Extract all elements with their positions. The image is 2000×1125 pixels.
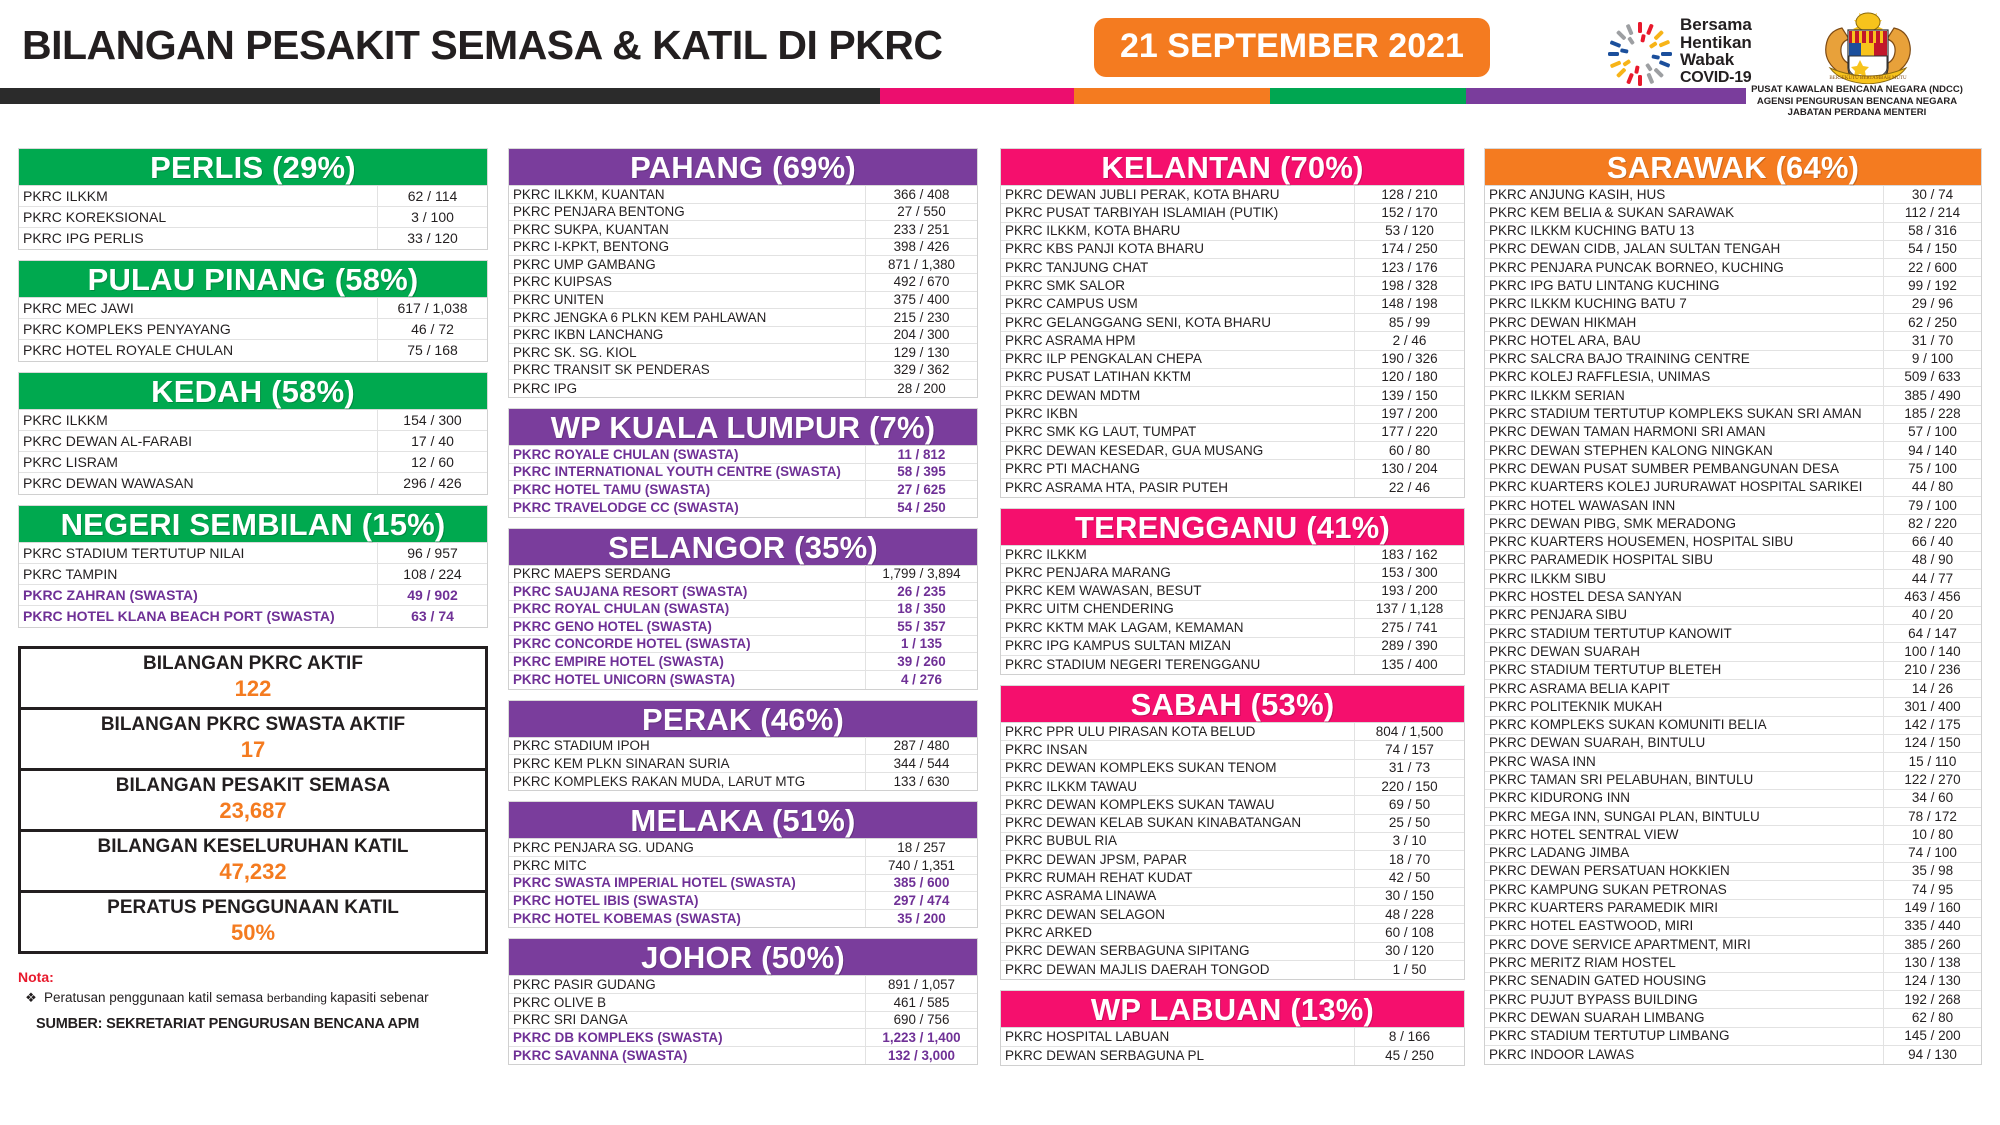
patients-over-beds: 66 / 40 xyxy=(1883,533,1981,551)
table-row: PKRC DEWAN JPSM, PAPAR18 / 70 xyxy=(1001,851,1464,869)
bhw-line2: Hentikan xyxy=(1680,34,1800,52)
patients-over-beds: 192 / 268 xyxy=(1883,991,1981,1009)
summary-box: BILANGAN PKRC AKTIF122BILANGAN PKRC SWAS… xyxy=(18,646,488,954)
table-row: PKRC DEWAN KOMPLEKS SUKAN TAWAU69 / 50 xyxy=(1001,796,1464,814)
table-row: PKRC DEWAN PUSAT SUMBER PEMBANGUNAN DESA… xyxy=(1485,460,1981,478)
table-row: PKRC GENO HOTEL (SWASTA)55 / 357 xyxy=(509,618,977,636)
patients-over-beds: 75 / 168 xyxy=(377,340,487,361)
facility-name: PKRC EMPIRE HOTEL (SWASTA) xyxy=(509,653,865,671)
facility-name: PKRC KUARTERS HOUSEMEN, HOSPITAL SIBU xyxy=(1485,533,1883,551)
facility-name: PKRC CONCORDE HOTEL (SWASTA) xyxy=(509,635,865,653)
patients-over-beds: 123 / 176 xyxy=(1354,259,1464,277)
summary-label: PERATUS PENGGUNAAN KATIL xyxy=(21,896,485,920)
facility-name: PKRC SENADIN GATED HOUSING xyxy=(1485,972,1883,990)
patients-over-beds: 193 / 200 xyxy=(1354,582,1464,600)
facility-name: PKRC KBS PANJI KOTA BHARU xyxy=(1001,240,1354,258)
table-row: PKRC TAMPIN108 / 224 xyxy=(19,564,487,585)
table-row: PKRC HOSTEL DESA SANYAN463 / 456 xyxy=(1485,589,1981,607)
column-4: SARAWAK (64%)PKRC ANJUNG KASIH, HUS30 / … xyxy=(1484,148,1982,1075)
facility-name: PKRC MERITZ RIAM HOSTEL xyxy=(1485,954,1883,972)
patients-over-beds: 129 / 130 xyxy=(865,344,977,362)
facility-name: PKRC ILKKM SIBU xyxy=(1485,570,1883,588)
patients-over-beds: 210 / 236 xyxy=(1883,661,1981,679)
patients-over-beds: 75 / 100 xyxy=(1883,460,1981,478)
table-row: PKRC SRI DANGA690 / 756 xyxy=(509,1012,977,1030)
pkrc-dashboard-page: BILANGAN PESAKIT SEMASA & KATIL DI PKRC … xyxy=(0,0,2000,1125)
facility-name: PKRC SAUJANA RESORT (SWASTA) xyxy=(509,583,865,601)
table-row: PKRC DB KOMPLEKS (SWASTA)1,223 / 1,400 xyxy=(509,1029,977,1047)
facility-name: PKRC MEC JAWI xyxy=(19,298,377,319)
patients-over-beds: 375 / 400 xyxy=(865,291,977,309)
facility-name: PKRC IKBN xyxy=(1001,405,1354,423)
note-part3: kapasiti sebenar xyxy=(330,990,428,1005)
patients-over-beds: 62 / 250 xyxy=(1883,314,1981,332)
table-row: PKRC STADIUM TERTUTUP KOMPLEKS SUKAN SRI… xyxy=(1485,406,1981,424)
patients-over-beds: 177 / 220 xyxy=(1354,423,1464,441)
facility-name: PKRC KKTM MAK LAGAM, KEMAMAN xyxy=(1001,619,1354,637)
patients-over-beds: 35 / 98 xyxy=(1883,862,1981,880)
patients-over-beds: 58 / 316 xyxy=(1883,222,1981,240)
patients-over-beds: 99 / 192 xyxy=(1883,277,1981,295)
facility-name: PKRC KIDURONG INN xyxy=(1485,789,1883,807)
facility-name: PKRC ASRAMA HTA, PASIR PUTEH xyxy=(1001,479,1354,497)
patients-over-beds: 142 / 175 xyxy=(1883,716,1981,734)
facility-name: PKRC ILKKM, KOTA BHARU xyxy=(1001,222,1354,240)
facility-name: PKRC TRAVELODGE CC (SWASTA) xyxy=(509,499,865,517)
facility-name: PKRC DEWAN PERSATUAN HOKKIEN xyxy=(1485,862,1883,880)
facility-name: PKRC HOTEL IBIS (SWASTA) xyxy=(509,892,865,910)
facility-name: PKRC ILP PENGKALAN CHEPA xyxy=(1001,350,1354,368)
patients-over-beds: 74 / 95 xyxy=(1883,881,1981,899)
table-row: PKRC BUBUL RIA3 / 10 xyxy=(1001,833,1464,851)
patients-over-beds: 11 / 812 xyxy=(865,446,977,464)
table-row: PKRC INSAN74 / 157 xyxy=(1001,741,1464,759)
facility-name: PKRC SRI DANGA xyxy=(509,1011,865,1029)
facility-name: PKRC KEM PLKN SINARAN SURIA xyxy=(509,755,865,773)
table-row: PKRC KUARTERS KOLEJ JURURAWAT HOSPITAL S… xyxy=(1485,479,1981,497)
facility-name: PKRC KUARTERS KOLEJ JURURAWAT HOSPITAL S… xyxy=(1485,478,1883,496)
table-row: PKRC ILKKM KUCHING BATU 1358 / 316 xyxy=(1485,223,1981,241)
patients-over-beds: 8 / 166 xyxy=(1354,1028,1464,1046)
patients-over-beds: 190 / 326 xyxy=(1354,350,1464,368)
table-row: PKRC SAUJANA RESORT (SWASTA)26 / 235 xyxy=(509,583,977,601)
facility-table: PKRC PPR ULU PIRASAN KOTA BELUD804 / 1,5… xyxy=(1000,723,1465,980)
patients-over-beds: 85 / 99 xyxy=(1354,314,1464,332)
state-block: PERLIS (29%)PKRC ILKKM62 / 114PKRC KOREK… xyxy=(18,148,488,250)
covid-burst-icon xyxy=(1604,18,1676,90)
patients-over-beds: 40 / 20 xyxy=(1883,606,1981,624)
patients-over-beds: 31 / 70 xyxy=(1883,332,1981,350)
patients-over-beds: 74 / 157 xyxy=(1354,741,1464,759)
summary-value: 122 xyxy=(21,676,485,702)
facility-name: PKRC TAMAN SRI PELABUHAN, BINTULU xyxy=(1485,771,1883,789)
table-row: PKRC PTI MACHANG130 / 204 xyxy=(1001,460,1464,478)
patients-over-beds: 145 / 200 xyxy=(1883,1027,1981,1045)
facility-name: PKRC HOTEL ARA, BAU xyxy=(1485,332,1883,350)
table-row: PKRC IPG KAMPUS SULTAN MIZAN289 / 390 xyxy=(1001,638,1464,656)
facility-name: PKRC ARKED xyxy=(1001,924,1354,942)
patients-over-beds: 804 / 1,500 xyxy=(1354,723,1464,741)
facility-name: PKRC MEGA INN, SUNGAI PLAN, BINTULU xyxy=(1485,808,1883,826)
patients-over-beds: 287 / 480 xyxy=(865,737,977,755)
patients-over-beds: 122 / 270 xyxy=(1883,771,1981,789)
patients-over-beds: 130 / 138 xyxy=(1883,954,1981,972)
table-row: PKRC KUIPSAS492 / 670 xyxy=(509,274,977,292)
facility-name: PKRC TAMPIN xyxy=(19,564,377,585)
patients-over-beds: 55 / 357 xyxy=(865,618,977,636)
facility-name: PKRC SUKPA, KUANTAN xyxy=(509,221,865,239)
table-row: PKRC DEWAN WAWASAN296 / 426 xyxy=(19,473,487,494)
patients-over-beds: 44 / 77 xyxy=(1883,570,1981,588)
state-header: MELAKA (51%) xyxy=(508,801,978,839)
table-row: PKRC PENJARA SIBU40 / 20 xyxy=(1485,607,1981,625)
table-row: PKRC DEWAN PERSATUAN HOKKIEN35 / 98 xyxy=(1485,863,1981,881)
patients-over-beds: 297 / 474 xyxy=(865,892,977,910)
table-row: PKRC ILKKM SIBU44 / 77 xyxy=(1485,570,1981,588)
facility-name: PKRC DEWAN HIKMAH xyxy=(1485,314,1883,332)
patients-over-beds: 385 / 600 xyxy=(865,874,977,892)
patients-over-beds: 233 / 251 xyxy=(865,221,977,239)
patients-over-beds: 137 / 1,128 xyxy=(1354,600,1464,618)
patients-over-beds: 29 / 96 xyxy=(1883,295,1981,313)
patients-over-beds: 891 / 1,057 xyxy=(865,976,977,994)
facility-name: PKRC RUMAH REHAT KUDAT xyxy=(1001,869,1354,887)
table-row: PKRC DEWAN KESEDAR, GUA MUSANG60 / 80 xyxy=(1001,442,1464,460)
facility-name: PKRC LADANG JIMBA xyxy=(1485,844,1883,862)
patients-over-beds: 108 / 224 xyxy=(377,564,487,585)
facility-name: PKRC PENJARA SIBU xyxy=(1485,606,1883,624)
patients-over-beds: 30 / 74 xyxy=(1883,186,1981,204)
facility-name: PKRC IKBN LANCHANG xyxy=(509,326,865,344)
header-strip-pink xyxy=(880,88,1074,104)
table-row: PKRC KEM BELIA & SUKAN SARAWAK112 / 214 xyxy=(1485,204,1981,222)
table-row: PKRC HOTEL KLANA BEACH PORT (SWASTA)63 /… xyxy=(19,606,487,627)
patients-over-beds: 1 / 50 xyxy=(1354,961,1464,979)
table-row: PKRC SMK SALOR198 / 328 xyxy=(1001,277,1464,295)
facility-name: PKRC SAVANNA (SWASTA) xyxy=(509,1047,865,1065)
facility-name: PKRC HOTEL KOBEMAS (SWASTA) xyxy=(509,910,865,928)
state-header: SABAH (53%) xyxy=(1000,685,1465,723)
table-row: PKRC DEWAN AL-FARABI17 / 40 xyxy=(19,431,487,452)
patients-over-beds: 204 / 300 xyxy=(865,326,977,344)
facility-name: PKRC DEWAN JUBLI PERAK, KOTA BHARU xyxy=(1001,186,1354,204)
table-row: PKRC TRANSIT SK PENDERAS329 / 362 xyxy=(509,362,977,380)
facility-name: PKRC PUJUT BYPASS BUILDING xyxy=(1485,991,1883,1009)
patients-over-beds: 148 / 198 xyxy=(1354,295,1464,313)
facility-name: PKRC DEWAN AL-FARABI xyxy=(19,431,377,452)
table-row: PKRC DEWAN STEPHEN KALONG NINGKAN94 / 14… xyxy=(1485,442,1981,460)
patients-over-beds: 385 / 260 xyxy=(1883,936,1981,954)
table-row: PKRC HOTEL SENTRAL VIEW10 / 80 xyxy=(1485,826,1981,844)
table-row: PKRC TRAVELODGE CC (SWASTA)54 / 250 xyxy=(509,499,977,517)
patients-over-beds: 1 / 135 xyxy=(865,635,977,653)
facility-name: PKRC I-KPKT, BENTONG xyxy=(509,238,865,256)
crest-line1: PUSAT KAWALAN BENCANA NEGARA (NDCC) xyxy=(1716,84,1998,96)
facility-name: PKRC POLITEKNIK MUKAH xyxy=(1485,698,1883,716)
note-part2: berbanding xyxy=(267,991,330,1005)
patients-over-beds: 139 / 150 xyxy=(1354,387,1464,405)
facility-name: PKRC DEWAN PIBG, SMK MERADONG xyxy=(1485,515,1883,533)
table-row: PKRC DEWAN SUARAH, BINTULU124 / 150 xyxy=(1485,735,1981,753)
source-line: SUMBER: SEKRETARIAT PENGURUSAN BENCANA A… xyxy=(36,1016,488,1032)
state-header: SARAWAK (64%) xyxy=(1484,148,1982,186)
patients-over-beds: 398 / 426 xyxy=(865,238,977,256)
facility-name: PKRC BUBUL RIA xyxy=(1001,832,1354,850)
facility-name: PKRC ILKKM, KUANTAN xyxy=(509,186,865,204)
notes-section: Nota:❖Peratusan penggunaan katil semasa … xyxy=(18,968,488,1032)
facility-name: PKRC PASIR GUDANG xyxy=(509,976,865,994)
table-row: PKRC DEWAN SELAGON48 / 228 xyxy=(1001,906,1464,924)
facility-table: PKRC HOSPITAL LABUAN8 / 166PKRC DEWAN SE… xyxy=(1000,1028,1465,1066)
table-row: PKRC HOTEL UNICORN (SWASTA)4 / 276 xyxy=(509,671,977,689)
facility-name: PKRC DEWAN KESEDAR, GUA MUSANG xyxy=(1001,442,1354,460)
patients-over-beds: 18 / 350 xyxy=(865,600,977,618)
table-row: PKRC KEM PLKN SINARAN SURIA344 / 544 xyxy=(509,755,977,773)
facility-name: PKRC KOMPLEKS SUKAN KOMUNITI BELIA xyxy=(1485,716,1883,734)
facility-name: PKRC HOTEL WAWASAN INN xyxy=(1485,497,1883,515)
table-row: PKRC UITM CHENDERING137 / 1,128 xyxy=(1001,601,1464,619)
facility-name: PKRC TANJUNG CHAT xyxy=(1001,259,1354,277)
facility-name: PKRC PENJARA MARANG xyxy=(1001,564,1354,582)
note-part1: Peratusan penggunaan katil semasa xyxy=(44,990,267,1005)
patients-over-beds: 344 / 544 xyxy=(865,755,977,773)
patients-over-beds: 2 / 46 xyxy=(1354,332,1464,350)
table-row: PKRC WASA INN15 / 110 xyxy=(1485,753,1981,771)
patients-over-beds: 100 / 140 xyxy=(1883,643,1981,661)
patients-over-beds: 25 / 50 xyxy=(1354,814,1464,832)
patients-over-beds: 46 / 72 xyxy=(377,319,487,340)
facility-name: PKRC SWASTA IMPERIAL HOTEL (SWASTA) xyxy=(509,874,865,892)
table-row: PKRC IKBN197 / 200 xyxy=(1001,406,1464,424)
patients-over-beds: 154 / 300 xyxy=(377,410,487,431)
page-title: BILANGAN PESAKIT SEMASA & KATIL DI PKRC xyxy=(22,22,943,69)
facility-name: PKRC HOTEL ROYALE CHULAN xyxy=(19,340,377,361)
table-row: PKRC DEWAN KOMPLEKS SUKAN TENOM31 / 73 xyxy=(1001,760,1464,778)
patients-over-beds: 18 / 70 xyxy=(1354,851,1464,869)
state-block: TERENGGANU (41%)PKRC ILKKM183 / 162PKRC … xyxy=(1000,508,1465,675)
patients-over-beds: 740 / 1,351 xyxy=(865,857,977,875)
facility-name: PKRC ILKKM SERIAN xyxy=(1485,387,1883,405)
table-row: PKRC MITC740 / 1,351 xyxy=(509,857,977,875)
facility-name: PKRC IPG PERLIS xyxy=(19,228,377,249)
table-row: PKRC DEWAN SERBAGUNA PL45 / 250 xyxy=(1001,1047,1464,1065)
table-row: PKRC IPG28 / 200 xyxy=(509,380,977,398)
table-row: PKRC SMK KG LAUT, TUMPAT177 / 220 xyxy=(1001,424,1464,442)
table-row: PKRC CAMPUS USM148 / 198 xyxy=(1001,296,1464,314)
state-block: WP KUALA LUMPUR (7%)PKRC ROYALE CHULAN (… xyxy=(508,408,978,517)
table-row: PKRC HOTEL EASTWOOD, MIRI335 / 440 xyxy=(1485,918,1981,936)
patients-over-beds: 690 / 756 xyxy=(865,1011,977,1029)
facility-name: PKRC DEWAN KELAB SUKAN KINABATANGAN xyxy=(1001,814,1354,832)
patients-over-beds: 94 / 140 xyxy=(1883,442,1981,460)
table-row: PKRC PUSAT TARBIYAH ISLAMIAH (PUTIK)152 … xyxy=(1001,204,1464,222)
table-row: PKRC KKTM MAK LAGAM, KEMAMAN275 / 741 xyxy=(1001,619,1464,637)
table-row: PKRC JENGKA 6 PLKN KEM PAHLAWAN215 / 230 xyxy=(509,309,977,327)
facility-name: PKRC HOTEL TAMU (SWASTA) xyxy=(509,481,865,499)
bhw-line3: Wabak xyxy=(1680,51,1800,69)
patients-over-beds: 39 / 260 xyxy=(865,653,977,671)
facility-name: PKRC JENGKA 6 PLKN KEM PAHLAWAN xyxy=(509,309,865,327)
state-header: KEDAH (58%) xyxy=(18,372,488,410)
patients-over-beds: 33 / 120 xyxy=(377,228,487,249)
table-row: PKRC DEWAN SUARAH LIMBANG62 / 80 xyxy=(1485,1009,1981,1027)
facility-table: PKRC ILKKM183 / 162PKRC PENJARA MARANG15… xyxy=(1000,546,1465,675)
facility-name: PKRC INTERNATIONAL YOUTH CENTRE (SWASTA) xyxy=(509,463,865,481)
patients-over-beds: 289 / 390 xyxy=(1354,637,1464,655)
facility-name: PKRC KUARTERS PARAMEDIK MIRI xyxy=(1485,899,1883,917)
patients-over-beds: 149 / 160 xyxy=(1883,899,1981,917)
table-row: PKRC DEWAN TAMAN HARMONI SRI AMAN57 / 10… xyxy=(1485,424,1981,442)
facility-name: PKRC DEWAN SUARAH, BINTULU xyxy=(1485,734,1883,752)
facility-name: PKRC ROYAL CHULAN (SWASTA) xyxy=(509,600,865,618)
table-row: PKRC PASIR GUDANG891 / 1,057 xyxy=(509,976,977,994)
summary-cell: PERATUS PENGGUNAAN KATIL50% xyxy=(21,893,485,951)
patients-over-beds: 335 / 440 xyxy=(1883,917,1981,935)
facility-name: PKRC STADIUM IPOH xyxy=(509,737,865,755)
facility-name: PKRC ILKKM TAWAU xyxy=(1001,778,1354,796)
summary-value: 23,687 xyxy=(21,798,485,824)
facility-name: PKRC ILKKM xyxy=(19,186,377,207)
facility-name: PKRC SK. SG. KIOL xyxy=(509,344,865,362)
state-block: PERAK (46%)PKRC STADIUM IPOH287 / 480PKR… xyxy=(508,700,978,792)
patients-over-beds: 69 / 50 xyxy=(1354,796,1464,814)
table-row: PKRC ANJUNG KASIH, HUS30 / 74 xyxy=(1485,186,1981,204)
svg-text:BERSEKUTU BERTAMBAH MUTU: BERSEKUTU BERTAMBAH MUTU xyxy=(1829,76,1907,81)
facility-name: PKRC CAMPUS USM xyxy=(1001,295,1354,313)
patients-over-beds: 871 / 1,380 xyxy=(865,256,977,274)
table-row: PKRC DEWAN KELAB SUKAN KINABATANGAN25 / … xyxy=(1001,815,1464,833)
patients-over-beds: 31 / 73 xyxy=(1354,759,1464,777)
table-row: PKRC DEWAN SERBAGUNA SIPITANG30 / 120 xyxy=(1001,943,1464,961)
facility-name: PKRC HOTEL KLANA BEACH PORT (SWASTA) xyxy=(19,606,377,627)
crest-caption: PUSAT KAWALAN BENCANA NEGARA (NDCC) AGEN… xyxy=(1716,84,1998,119)
table-row: PKRC UMP GAMBANG871 / 1,380 xyxy=(509,256,977,274)
facility-table: PKRC ILKKM, KUANTAN366 / 408PKRC PENJARA… xyxy=(508,186,978,398)
state-block: NEGERI SEMBILAN (15%)PKRC STADIUM TERTUT… xyxy=(18,505,488,628)
table-row: PKRC LADANG JIMBA74 / 100 xyxy=(1485,845,1981,863)
facility-name: PKRC PUSAT TARBIYAH ISLAMIAH (PUTIK) xyxy=(1001,204,1354,222)
facility-table: PKRC MEC JAWI617 / 1,038PKRC KOMPLEKS PE… xyxy=(18,298,488,362)
facility-name: PKRC PENJARA PUNCAK BORNEO, KUCHING xyxy=(1485,259,1883,277)
table-row: PKRC KIDURONG INN34 / 60 xyxy=(1485,790,1981,808)
table-row: PKRC PENJARA PUNCAK BORNEO, KUCHING22 / … xyxy=(1485,259,1981,277)
facility-name: PKRC KOLEJ RAFFLESIA, UNIMAS xyxy=(1485,368,1883,386)
table-row: PKRC ILKKM KUCHING BATU 729 / 96 xyxy=(1485,296,1981,314)
table-row: PKRC ILKKM, KOTA BHARU53 / 120 xyxy=(1001,223,1464,241)
patients-over-beds: 53 / 120 xyxy=(1354,222,1464,240)
facility-name: PKRC HOTEL SENTRAL VIEW xyxy=(1485,826,1883,844)
column-2: PAHANG (69%)PKRC ILKKM, KUANTAN366 / 408… xyxy=(508,148,978,1075)
state-block: SABAH (53%)PKRC PPR ULU PIRASAN KOTA BEL… xyxy=(1000,685,1465,980)
patients-over-beds: 18 / 257 xyxy=(865,839,977,857)
table-row: PKRC ASRAMA HPM2 / 46 xyxy=(1001,332,1464,350)
patients-over-beds: 275 / 741 xyxy=(1354,619,1464,637)
facility-name: PKRC KOREKSIONAL xyxy=(19,207,377,228)
summary-cell: BILANGAN PKRC SWASTA AKTIF17 xyxy=(21,710,485,771)
facility-name: PKRC ASRAMA HPM xyxy=(1001,332,1354,350)
table-row: PKRC HOTEL ROYALE CHULAN75 / 168 xyxy=(19,340,487,361)
summary-label: BILANGAN PKRC SWASTA AKTIF xyxy=(21,713,485,737)
table-row: PKRC POLITEKNIK MUKAH301 / 400 xyxy=(1485,698,1981,716)
table-row: PKRC DOVE SERVICE APARTMENT, MIRI385 / 2… xyxy=(1485,936,1981,954)
facility-name: PKRC DEWAN TAMAN HARMONI SRI AMAN xyxy=(1485,423,1883,441)
facility-table: PKRC ILKKM154 / 300PKRC DEWAN AL-FARABI1… xyxy=(18,410,488,495)
patients-over-beds: 57 / 100 xyxy=(1883,423,1981,441)
header-strip-green xyxy=(1270,88,1466,104)
table-row: PKRC SUKPA, KUANTAN233 / 251 xyxy=(509,221,977,239)
patients-over-beds: 4 / 276 xyxy=(865,671,977,689)
facility-table: PKRC ILKKM62 / 114PKRC KOREKSIONAL3 / 10… xyxy=(18,186,488,250)
facility-name: PKRC HOSPITAL LABUAN xyxy=(1001,1028,1354,1046)
summary-cell: BILANGAN KESELURUHAN KATIL47,232 xyxy=(21,832,485,893)
table-row: PKRC DEWAN JUBLI PERAK, KOTA BHARU128 / … xyxy=(1001,186,1464,204)
facility-name: PKRC ASRAMA LINAWA xyxy=(1001,887,1354,905)
facility-name: PKRC GENO HOTEL (SWASTA) xyxy=(509,618,865,636)
state-header: PAHANG (69%) xyxy=(508,148,978,186)
table-row: PKRC INDOOR LAWAS94 / 130 xyxy=(1485,1046,1981,1064)
table-row: PKRC STADIUM TERTUTUP KANOWIT64 / 147 xyxy=(1485,625,1981,643)
state-block: PAHANG (69%)PKRC ILKKM, KUANTAN366 / 408… xyxy=(508,148,978,398)
facility-name: PKRC LISRAM xyxy=(19,452,377,473)
patients-over-beds: 220 / 150 xyxy=(1354,778,1464,796)
table-row: PKRC PENJARA SG. UDANG18 / 257 xyxy=(509,839,977,857)
patients-over-beds: 62 / 114 xyxy=(377,186,487,207)
patients-over-beds: 120 / 180 xyxy=(1354,368,1464,386)
table-row: PKRC OLIVE B461 / 585 xyxy=(509,994,977,1012)
facility-name: PKRC UITM CHENDERING xyxy=(1001,600,1354,618)
crest-line3: JABATAN PERDANA MENTERI xyxy=(1716,107,1998,119)
patients-over-beds: 124 / 150 xyxy=(1883,734,1981,752)
table-row: PKRC IPG PERLIS33 / 120 xyxy=(19,228,487,249)
patients-over-beds: 461 / 585 xyxy=(865,994,977,1012)
table-row: PKRC UNITEN375 / 400 xyxy=(509,292,977,310)
column-1: PERLIS (29%)PKRC ILKKM62 / 114PKRC KOREK… xyxy=(18,148,488,1032)
facility-name: PKRC GELANGGANG SENI, KOTA BHARU xyxy=(1001,314,1354,332)
facility-name: PKRC HOTEL UNICORN (SWASTA) xyxy=(509,671,865,689)
patients-over-beds: 30 / 150 xyxy=(1354,887,1464,905)
facility-name: PKRC STADIUM TERTUTUP KOMPLEKS SUKAN SRI… xyxy=(1485,405,1883,423)
column-3: KELANTAN (70%)PKRC DEWAN JUBLI PERAK, KO… xyxy=(1000,148,1465,1076)
diamond-bullet-icon: ❖ xyxy=(18,988,44,1007)
patients-over-beds: 34 / 60 xyxy=(1883,789,1981,807)
state-block: SELANGOR (35%)PKRC MAEPS SERDANG1,799 / … xyxy=(508,528,978,690)
table-row: PKRC MAEPS SERDANG1,799 / 3,894 xyxy=(509,566,977,584)
table-row: PKRC PARAMEDIK HOSPITAL SIBU48 / 90 xyxy=(1485,552,1981,570)
patients-over-beds: 54 / 150 xyxy=(1883,240,1981,258)
patients-over-beds: 296 / 426 xyxy=(377,473,487,494)
facility-name: PKRC DB KOMPLEKS (SWASTA) xyxy=(509,1029,865,1047)
patients-over-beds: 58 / 395 xyxy=(865,463,977,481)
patients-over-beds: 174 / 250 xyxy=(1354,240,1464,258)
patients-over-beds: 463 / 456 xyxy=(1883,588,1981,606)
table-row: PKRC CONCORDE HOTEL (SWASTA)1 / 135 xyxy=(509,636,977,654)
facility-table: PKRC ROYALE CHULAN (SWASTA)11 / 812PKRC … xyxy=(508,446,978,517)
patients-over-beds: 185 / 228 xyxy=(1883,405,1981,423)
patients-over-beds: 132 / 3,000 xyxy=(865,1047,977,1065)
facility-name: PKRC DEWAN JPSM, PAPAR xyxy=(1001,851,1354,869)
facility-name: PKRC KEM BELIA & SUKAN SARAWAK xyxy=(1485,204,1883,222)
patients-over-beds: 60 / 80 xyxy=(1354,442,1464,460)
facility-name: PKRC KEM WAWASAN, BESUT xyxy=(1001,582,1354,600)
table-row: PKRC HOTEL WAWASAN INN79 / 100 xyxy=(1485,497,1981,515)
patients-over-beds: 124 / 130 xyxy=(1883,972,1981,990)
patients-over-beds: 22 / 600 xyxy=(1883,259,1981,277)
patients-over-beds: 130 / 204 xyxy=(1354,460,1464,478)
patients-over-beds: 9 / 100 xyxy=(1883,350,1981,368)
table-row: PKRC IPG BATU LINTANG KUCHING99 / 192 xyxy=(1485,277,1981,295)
table-row: PKRC HOSPITAL LABUAN8 / 166 xyxy=(1001,1028,1464,1046)
state-header: KELANTAN (70%) xyxy=(1000,148,1465,186)
